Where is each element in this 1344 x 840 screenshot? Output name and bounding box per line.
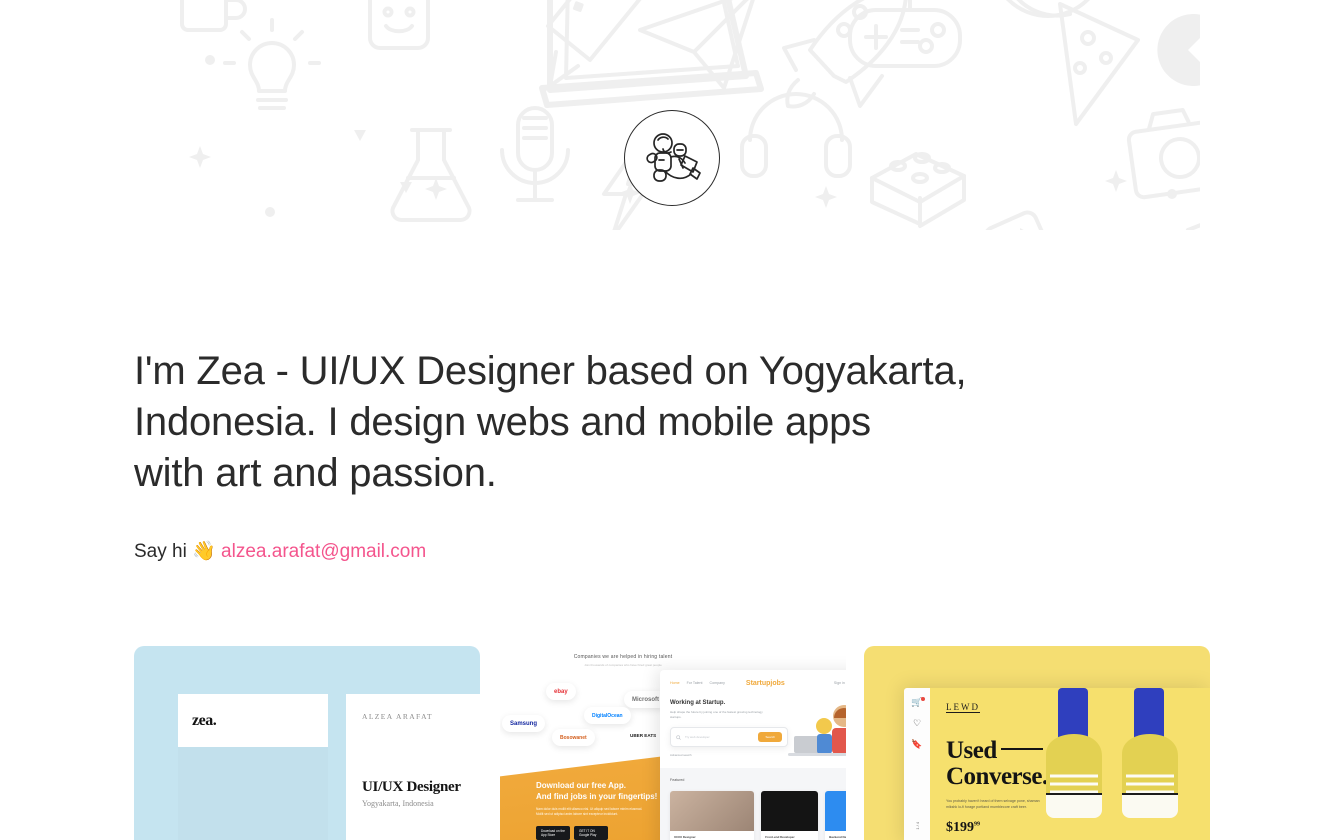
pencil-icon (548, 0, 652, 86)
gamepad-icon (850, 0, 960, 66)
people-illustration (788, 700, 846, 758)
site-logo[interactable] (624, 110, 720, 206)
jobs-hero: Working at Startup. Help shape the futur… (660, 696, 846, 766)
coffee-mug-icon (182, 0, 245, 30)
logo-chip-ebay: ebay (546, 683, 576, 700)
nav-item-company[interactable]: Company (710, 681, 725, 685)
laptop-icon (542, 0, 761, 105)
job-search-bar[interactable]: Try web developer Search (670, 727, 788, 747)
lightbulb-icon (225, 20, 319, 108)
jobs-site-window: Home For Talent Company Startupjobs Sign… (660, 670, 846, 840)
hero-body: Help shape the future by joining one of … (670, 710, 766, 719)
logo-chip-bosowanet: Bosowanet (552, 729, 595, 746)
hero-heading: Working at Startup. (670, 700, 788, 706)
shop-sidebar: 🛒 ♡ 🔖 1/4 (904, 688, 930, 840)
brand-card-back: ALZEA ARAFAT UI/UX Designer Yogyakarta, … (346, 694, 480, 840)
featured-jobs-section: Featured See More UI/UX Designer Full Ti… (660, 768, 846, 840)
pager-label: 1/4 (915, 821, 920, 830)
companies-heading: Companies we are helped in hiring talent (518, 654, 728, 660)
logo-chip-digitalocean: DigitalOcean (584, 707, 631, 724)
say-hi-label: Say hi (134, 541, 187, 562)
search-icon (676, 735, 681, 740)
lego-head-icon (370, 0, 428, 48)
nav-item-talent[interactable]: For Talent (687, 681, 703, 685)
logo-circle (624, 110, 720, 206)
intro-section: I'm Zea - UI/UX Designer based on Yogyak… (134, 346, 1144, 565)
brand-card-front: zea. (178, 694, 328, 840)
astronaut-illustration-icon (641, 129, 703, 187)
portfolio-page: I'm Zea - UI/UX Designer based on Yogyak… (0, 0, 1344, 840)
job-search-placeholder: Try web developer (685, 735, 758, 739)
job-tile-title: Front-end Developer (765, 835, 814, 839)
project-card-branding[interactable]: zea. ALZEA ARAFAT UI/UX Designer Yogyaka… (134, 646, 480, 840)
jobs-navbar: Home For Talent Company Startupjobs Sign… (660, 670, 846, 696)
headline-line-3: with art and passion. (134, 451, 497, 495)
diamond-icon (1188, 216, 1200, 230)
cart-icon[interactable]: 🛒 (911, 698, 922, 707)
companies-subheading: Join thousands of companies who have hir… (518, 663, 728, 667)
flask-icon (392, 130, 469, 220)
product-heading-line-1: Used (946, 737, 997, 764)
rocket-icon (784, 0, 906, 107)
brand-card-top: zea. (178, 694, 328, 747)
lego-brick-icon (872, 154, 964, 226)
converse-mockup: 🛒 ♡ 🔖 1/4 LEWD Used Converse. You (864, 646, 1210, 840)
page-headline: I'm Zea - UI/UX Designer based on Yogyak… (134, 346, 1144, 499)
logo-chip-ubereats: UBER EATS (622, 727, 664, 744)
logo-chip-samsung: Samsung (502, 715, 545, 732)
camera-icon (1128, 109, 1200, 198)
crowd-illustration-icon (788, 700, 846, 758)
pizza-icon (1060, 4, 1138, 124)
smartphone-icon (983, 210, 1075, 230)
pacman-icon (1157, 14, 1200, 86)
featured-label: Featured (670, 778, 684, 782)
job-tile-title: UI/UX Designer (674, 835, 750, 839)
shop-window: 🛒 ♡ 🔖 1/4 LEWD Used Converse. You (904, 688, 1210, 840)
nav-item-home[interactable]: Home (670, 681, 680, 685)
advanced-search-link[interactable]: Advanced search (670, 753, 788, 757)
headline-line-2: design webs and mobile apps (349, 400, 871, 444)
job-tile[interactable]: Front-end Developer Full Time • Remote (761, 791, 818, 840)
project-card-converse-shop[interactable]: 🛒 ♡ 🔖 1/4 LEWD Used Converse. You (864, 646, 1210, 840)
contact-line: Say hi 👋 alzea.arafat@gmail.com (134, 539, 1144, 565)
jobs-mockup: Companies we are helped in hiring talent… (500, 646, 846, 840)
shop-content: LEWD Used Converse. You probably haven't… (930, 688, 1210, 840)
converse-sneakers-icon (1024, 688, 1210, 840)
play-store-badge[interactable]: GET IT ON Google Play (574, 826, 608, 840)
app-store-badge[interactable]: Download on the App Store (536, 826, 570, 840)
job-tile[interactable]: UI/UX Designer Full Time • Jakarta, ID (670, 791, 754, 840)
job-search-button[interactable]: Search (758, 732, 782, 742)
business-card-location: Yogyakarta, Indonesia (362, 799, 480, 808)
project-cards: zea. ALZEA ARAFAT UI/UX Designer Yogyaka… (134, 646, 1210, 840)
waving-hand-icon: 👋 (192, 541, 216, 562)
zea-wordmark: zea. (192, 712, 216, 730)
sneakers-photo (1024, 688, 1210, 840)
business-card-name: ALZEA ARAFAT (362, 712, 480, 721)
triangle-icon (354, 0, 1200, 230)
brand-card-photo (178, 747, 328, 840)
cd-disc-icon (992, 0, 1104, 16)
business-card-role: UI/UX Designer (362, 779, 480, 796)
headphones-icon (742, 94, 850, 176)
project-card-startup-jobs[interactable]: Companies we are helped in hiring talent… (500, 646, 846, 840)
job-tile[interactable]: Backend Developer Contract • Bandung, ID (825, 791, 846, 840)
app-promo-body: Nam dolor duis mollit elit ullamco nisi.… (536, 807, 646, 817)
microphone-icon (502, 108, 568, 200)
featured-tiles: UI/UX Designer Full Time • Jakarta, ID F… (670, 791, 846, 840)
job-tile-title: Backend Developer (829, 835, 846, 839)
email-link[interactable]: alzea.arafat@gmail.com (221, 541, 426, 562)
heart-icon[interactable]: ♡ (913, 719, 921, 728)
jobs-brand-logo: Startupjobs (746, 680, 785, 687)
bookmark-icon[interactable]: 🔖 (911, 740, 922, 749)
paper-plane-icon (640, 0, 756, 88)
nav-signin-link[interactable]: Sign in (834, 681, 845, 685)
